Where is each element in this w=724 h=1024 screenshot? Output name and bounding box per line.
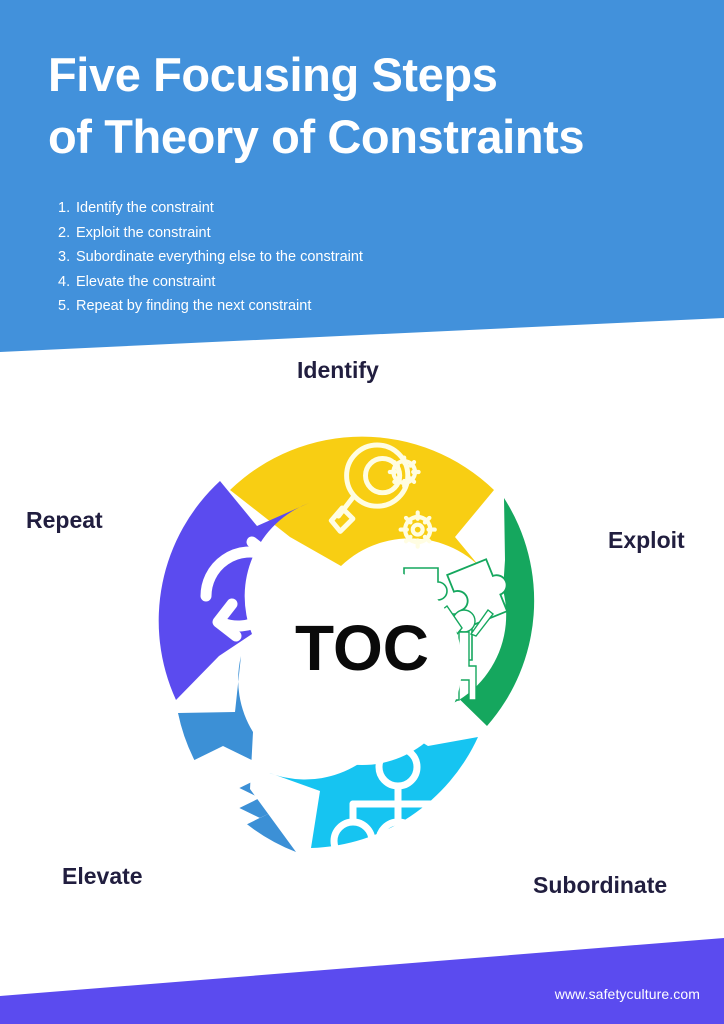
- steps-list: 1. Identify the constraint 2. Exploit th…: [58, 196, 363, 319]
- segment-label-repeat: Repeat: [26, 507, 103, 534]
- segment-label-exploit: Exploit: [608, 527, 685, 554]
- segment-label-identify: Identify: [297, 357, 379, 384]
- center-label-toc: TOC: [262, 616, 462, 680]
- list-item: 2. Exploit the constraint: [58, 221, 363, 246]
- list-item: 4. Elevate the constraint: [58, 270, 363, 295]
- list-item: 5. Repeat by finding the next constraint: [58, 294, 363, 319]
- step-text: Repeat by finding the next constraint: [76, 294, 311, 319]
- step-number: 5.: [58, 294, 76, 319]
- list-item: 3. Subordinate everything else to the co…: [58, 245, 363, 270]
- segment-label-subordinate: Subordinate: [533, 872, 667, 899]
- segment-label-elevate: Elevate: [62, 863, 143, 890]
- footer-band: [0, 928, 724, 1024]
- step-number: 2.: [58, 221, 76, 246]
- step-text: Elevate the constraint: [76, 270, 215, 295]
- page-title: Five Focusing Steps of Theory of Constra…: [48, 44, 708, 168]
- step-text: Exploit the constraint: [76, 221, 211, 246]
- step-text: Subordinate everything else to the const…: [76, 245, 363, 270]
- step-number: 1.: [58, 196, 76, 221]
- list-item: 1. Identify the constraint: [58, 196, 363, 221]
- footer-website-url[interactable]: www.safetyculture.com: [555, 986, 700, 1002]
- step-number: 4.: [58, 270, 76, 295]
- step-number: 3.: [58, 245, 76, 270]
- step-text: Identify the constraint: [76, 196, 214, 221]
- infographic-poster: Five Focusing Steps of Theory of Constra…: [0, 0, 724, 1024]
